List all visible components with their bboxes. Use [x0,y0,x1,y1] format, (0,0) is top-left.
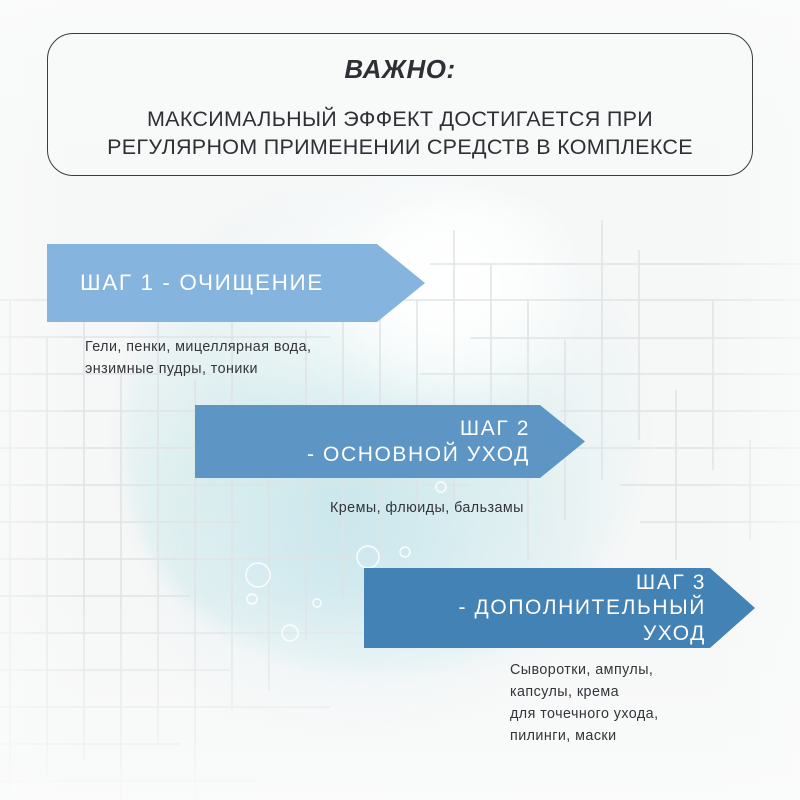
content-root: ВАЖНО: МАКСИМАЛЬНЫЙ ЭФФЕКТ ДОСТИГАЕТСЯ П… [0,0,800,800]
step-3-label: ШАГ 3 - ДОПОЛНИТЕЛЬНЫЙ УХОД [459,570,706,647]
important-callout-box: ВАЖНО: МАКСИМАЛЬНЫЙ ЭФФЕКТ ДОСТИГАЕТСЯ П… [47,33,753,176]
step-2-caption: Кремы, флюиды, бальзамы [330,497,524,519]
step-1-caption: Гели, пенки, мицеллярная вода, энзимные … [85,336,311,380]
step-1-label: ШАГ 1 - ОЧИЩЕНИЕ [80,269,324,296]
step-1-arrow-banner: ШАГ 1 - ОЧИЩЕНИЕ [47,244,425,322]
step-2-label: ШАГ 2 - ОСНОВНОЙ УХОД [307,416,530,467]
step-3-caption: Сыворотки, ампулы, капсулы, крема для то… [510,659,659,748]
step-3-arrow-banner: ШАГ 3 - ДОПОЛНИТЕЛЬНЫЙ УХОД [364,568,755,648]
callout-title: ВАЖНО: [344,56,455,82]
step-2-arrow-banner: ШАГ 2 - ОСНОВНОЙ УХОД [195,405,585,478]
callout-subtitle: МАКСИМАЛЬНЫЙ ЭФФЕКТ ДОСТИГАЕТСЯ ПРИ РЕГУ… [107,105,693,162]
